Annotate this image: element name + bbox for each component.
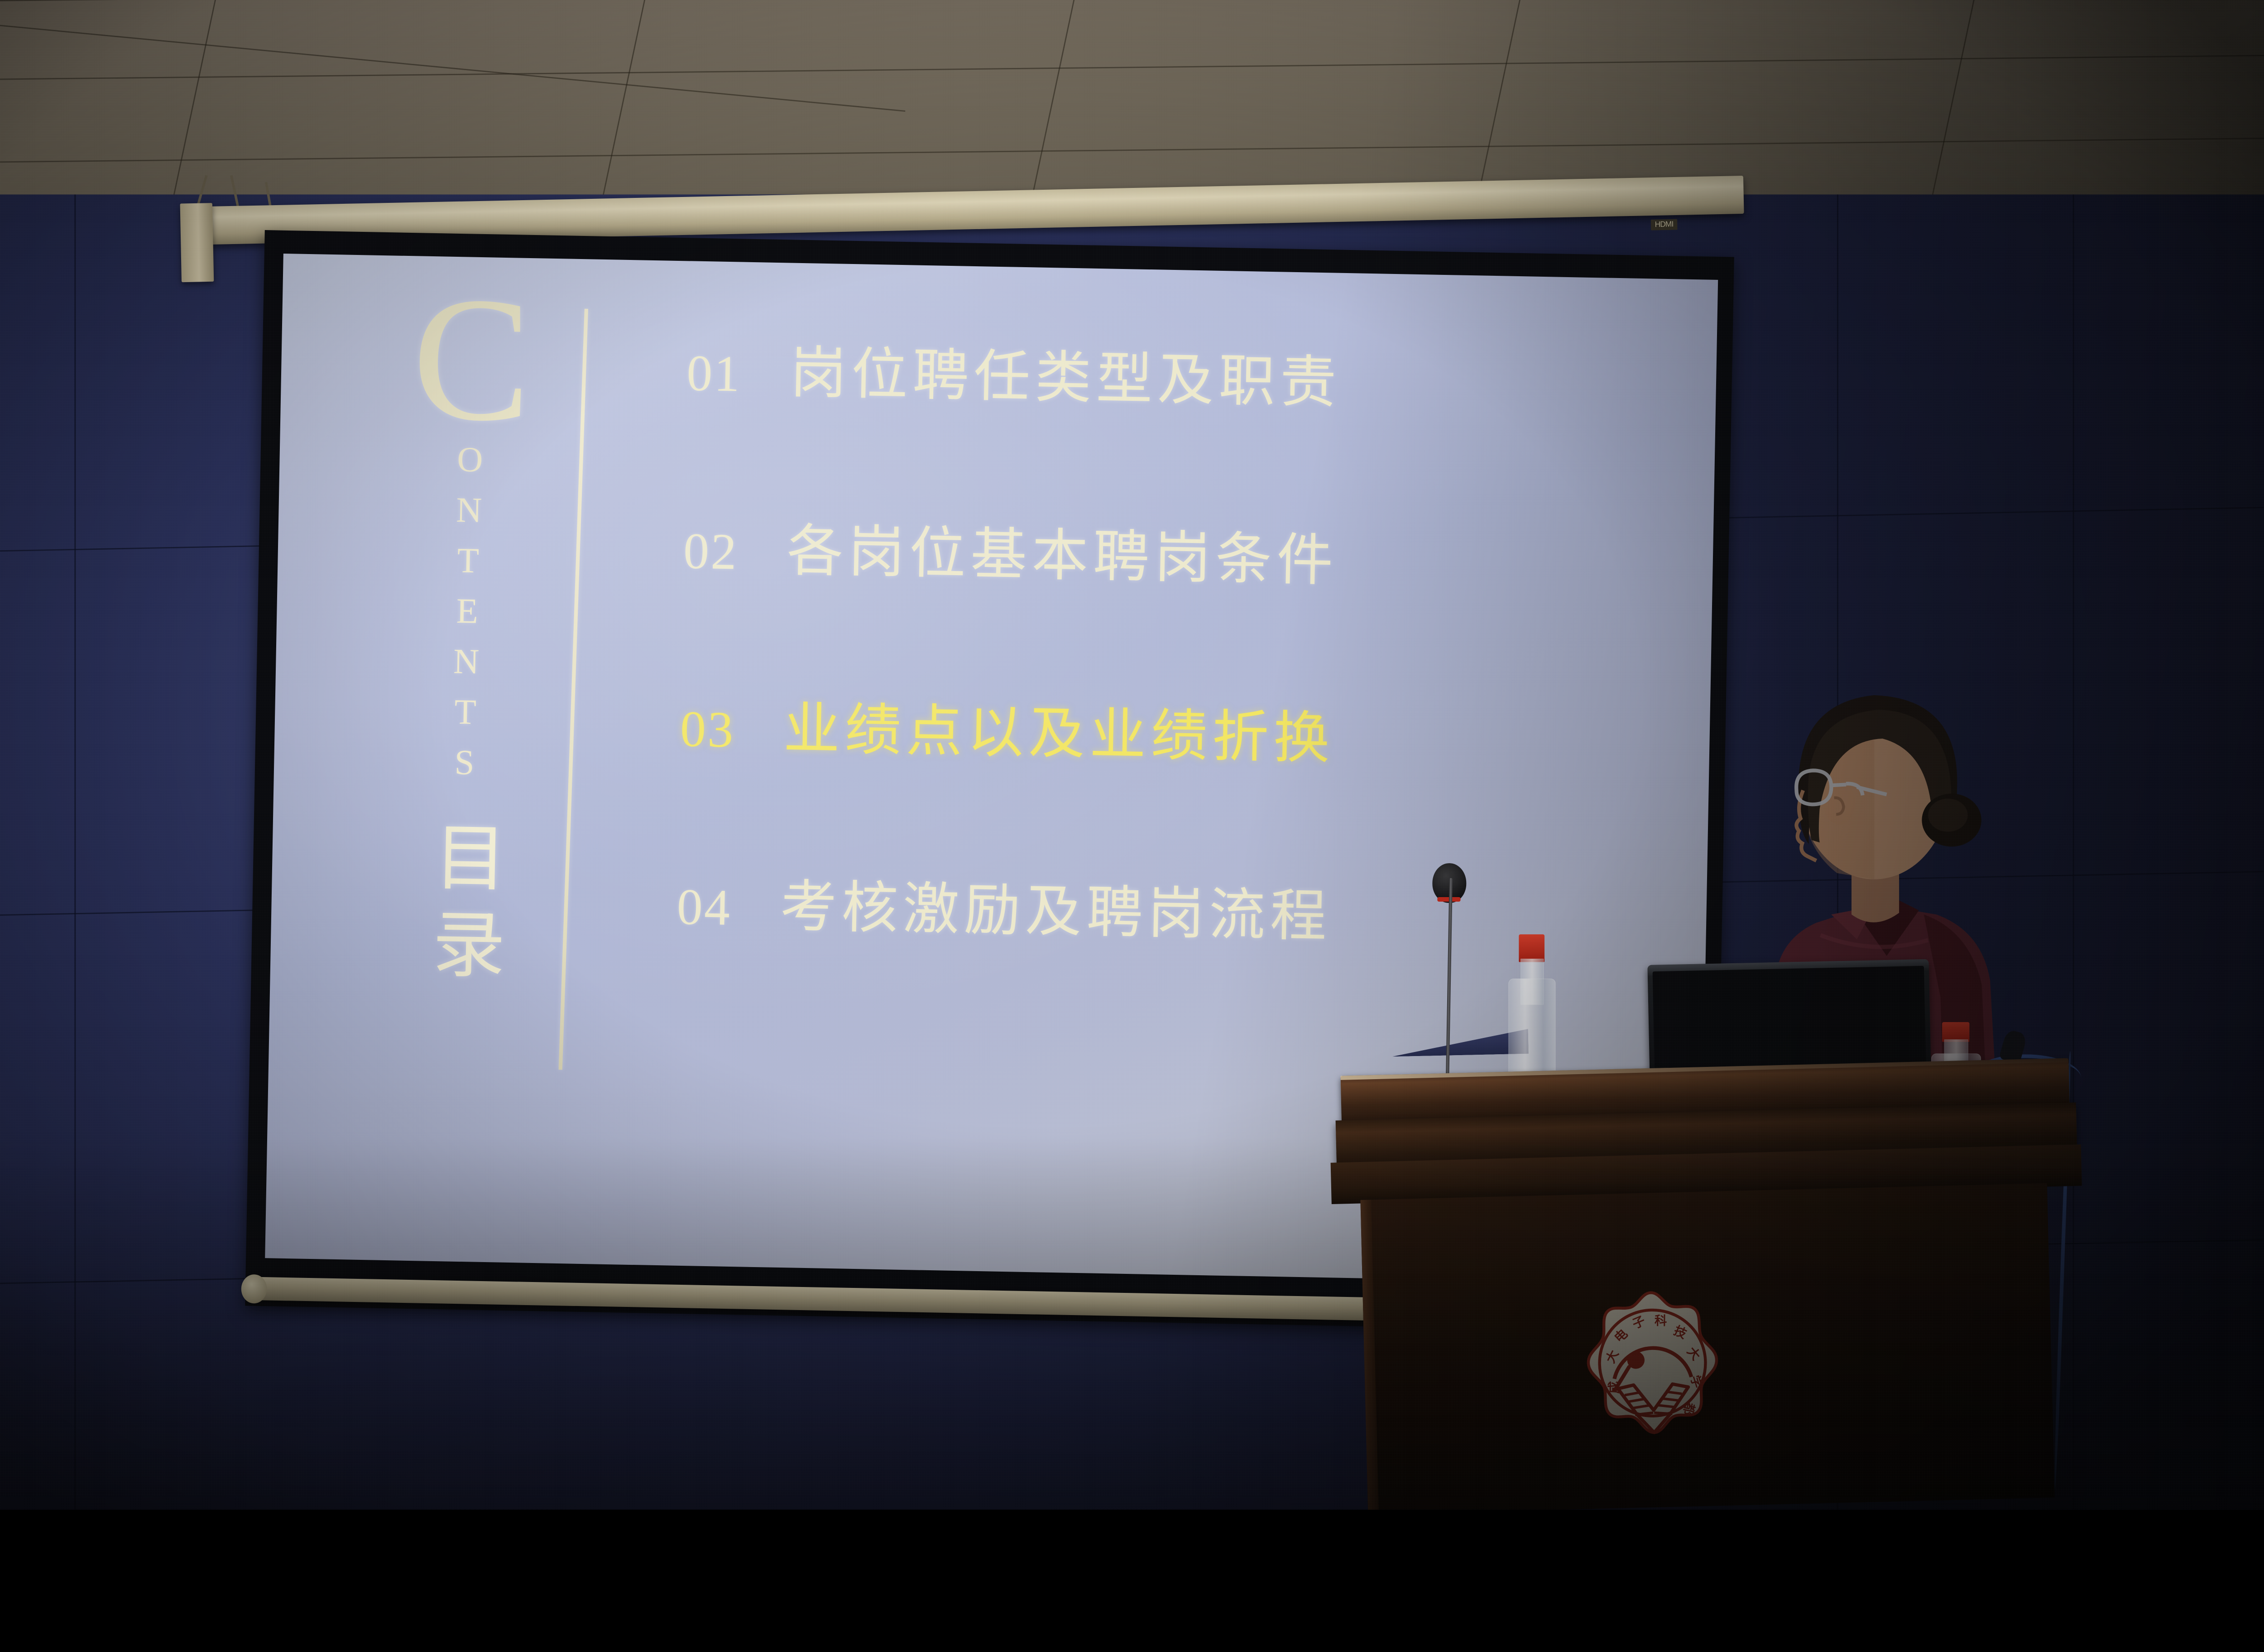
slide-divider-line — [559, 309, 588, 1070]
toc-item-active: 03 业绩点以及业绩折换 — [678, 681, 1674, 877]
ceiling-seam — [1027, 0, 1077, 216]
toc-item-number: 01 — [686, 344, 791, 404]
svg-text:成: 成 — [1607, 1381, 1621, 1394]
lecture-hall-photo: HDMI C ONTENTS 目录 01 岗位聘任类型及职责 02 — [0, 0, 2264, 1509]
university-crest: 大 电 子 科 技 大 学 成 都 — [1583, 1288, 1723, 1470]
bottle-cap — [1519, 934, 1545, 962]
toc-item-label: 岗位聘任类型及职责 — [790, 327, 1342, 418]
toc-item-label: 考核激励及聘岗流程 — [780, 861, 1332, 952]
toc-item-number: 04 — [676, 878, 781, 938]
podium: 大 电 子 科 技 大 学 成 都 — [1341, 1076, 2069, 1510]
contents-word-vertical: ONTENTS — [443, 439, 491, 793]
ceiling-seam — [167, 0, 216, 225]
contents-marker: C ONTENTS 目录 — [373, 305, 560, 1012]
toc-item: 01 岗位聘任类型及职责 — [684, 325, 1680, 521]
ceiling-seam — [0, 55, 2264, 80]
ceiling-seam — [1474, 0, 1524, 211]
svg-text:科: 科 — [1655, 1314, 1667, 1328]
toc-item-label: 各岗位基本聘岗条件 — [787, 505, 1339, 596]
wall-seam-vertical — [74, 194, 76, 1509]
toc-item-number: 03 — [680, 700, 784, 760]
bottle-cap — [1942, 1022, 1969, 1042]
contents-chinese-title: 目录 — [416, 819, 508, 994]
ceiling-seam-diagonal — [0, 25, 905, 112]
toc-item: 02 各岗位基本聘岗条件 — [681, 503, 1677, 699]
toc-item-number: 02 — [683, 522, 787, 582]
contents-letter-c: C — [411, 289, 532, 430]
ceiling-seam — [0, 138, 2264, 163]
ceiling-seam — [1929, 0, 1979, 206]
toc-item-label: 业绩点以及业绩折换 — [783, 683, 1335, 774]
screen-housing-endcap — [180, 203, 214, 282]
ceiling-seam — [0, 0, 2264, 1]
screen-housing-label: HDMI — [1651, 219, 1678, 231]
ceiling-seam — [597, 0, 647, 221]
wall-seam-vertical — [2073, 194, 2074, 1509]
